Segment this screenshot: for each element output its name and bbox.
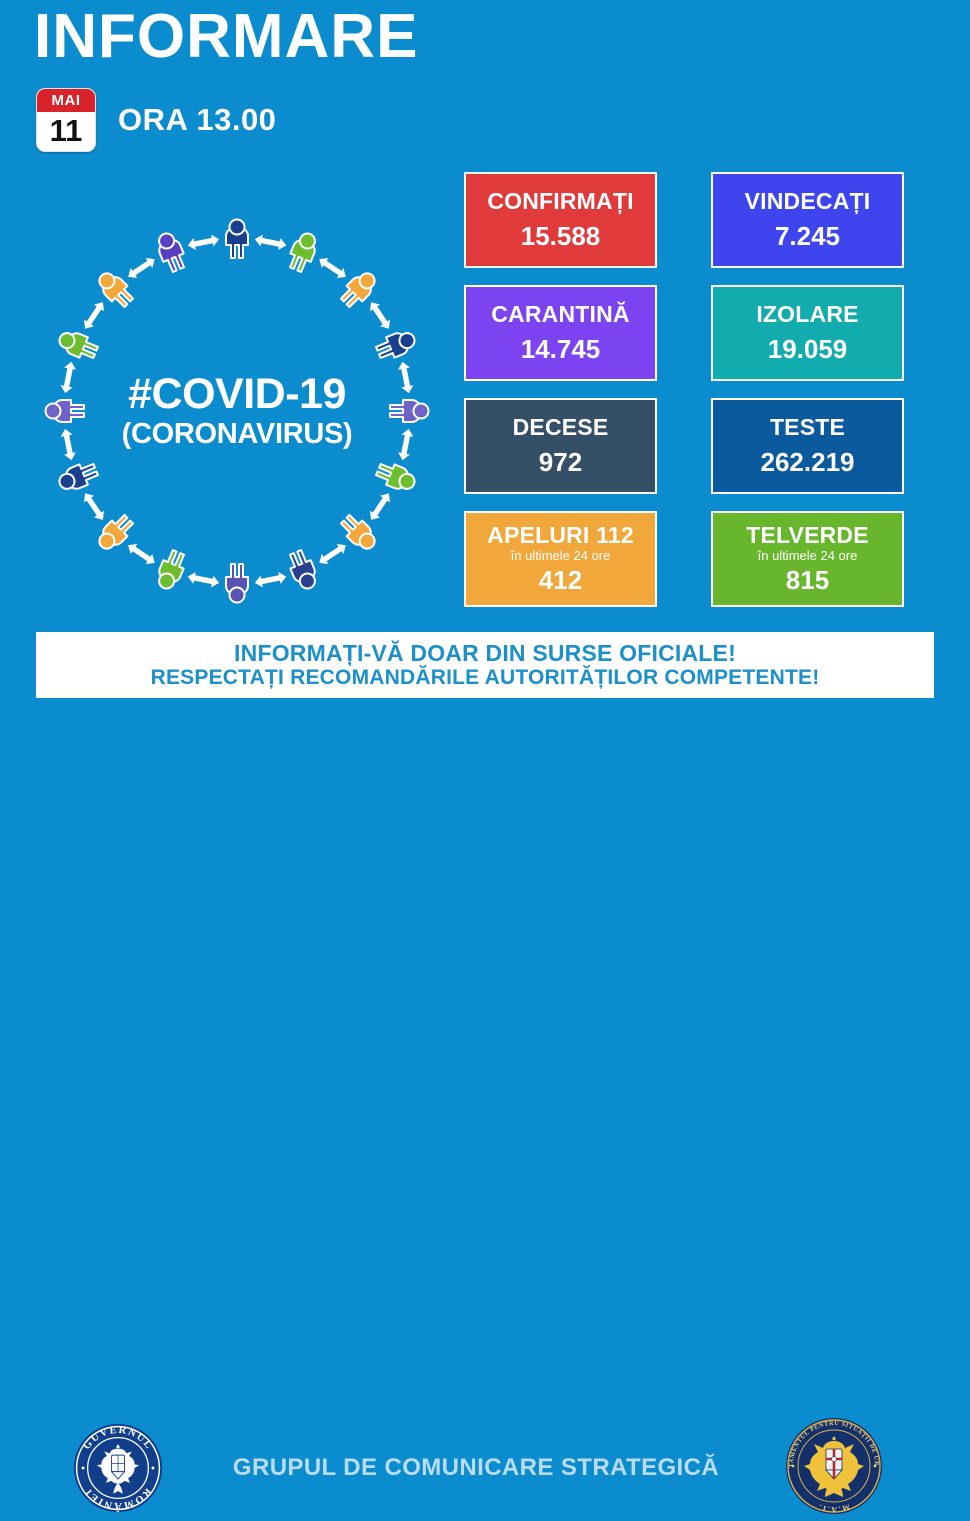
dsu-mai-seal-icon: DEPARTAMENTUL PENTRU SITUAȚII DE URGENȚĂ… — [784, 1416, 884, 1521]
double-arrow-icon — [187, 571, 221, 589]
person-icon — [285, 230, 320, 274]
stat-label: VINDECAȚI — [745, 189, 871, 214]
stat-label: TELVERDE — [746, 523, 869, 548]
stat-card-carantina[interactable]: CARANTINĂ 14.745 — [464, 285, 657, 381]
stat-value: 15.588 — [521, 223, 601, 249]
double-arrow-icon — [366, 299, 394, 332]
card-row: CONFIRMAȚI 15.588 VINDECAȚI 7.245 — [464, 172, 904, 268]
stat-card-telverde[interactable]: TELVERDE în ultimele 24 ore 815 — [711, 511, 904, 607]
stat-card-confirmati[interactable]: CONFIRMAȚI 15.588 — [464, 172, 657, 268]
stat-card-teste[interactable]: TESTE 262.219 — [711, 398, 904, 494]
person-icon — [56, 459, 100, 494]
double-arrow-icon — [254, 571, 288, 589]
double-arrow-icon — [254, 233, 288, 251]
stat-label: CONFIRMAȚI — [487, 189, 633, 214]
double-arrow-icon — [80, 299, 108, 332]
footer-title: GRUPUL DE COMUNICARE STRATEGICĂ — [206, 1454, 746, 1482]
stat-value: 19.059 — [768, 336, 848, 362]
double-arrow-icon — [125, 254, 158, 282]
double-arrow-icon — [366, 490, 394, 523]
double-arrow-icon — [59, 428, 77, 462]
person-icon — [374, 328, 418, 363]
stat-label: TESTE — [770, 415, 845, 440]
person-icon — [390, 400, 429, 422]
calendar-icon: MAI 11 — [36, 88, 96, 152]
stat-card-vindecati[interactable]: VINDECAȚI 7.245 — [711, 172, 904, 268]
stat-label: CARANTINĂ — [491, 302, 630, 327]
stat-value: 14.745 — [521, 336, 601, 362]
double-arrow-icon — [125, 540, 158, 568]
report-hour: ORA 13.00 — [118, 102, 276, 138]
double-arrow-icon — [59, 361, 77, 395]
person-icon — [226, 220, 248, 259]
person-icon — [56, 328, 100, 363]
double-arrow-icon — [80, 490, 108, 523]
stat-value: 262.219 — [761, 449, 855, 475]
stat-value: 412 — [539, 567, 582, 593]
person-icon — [374, 459, 418, 494]
stat-value: 972 — [539, 449, 582, 475]
person-icon — [46, 400, 85, 422]
card-row: DECESE 972 TESTE 262.219 — [464, 398, 904, 494]
date-time-bar: MAI 11 ORA 13.00 — [36, 88, 276, 152]
person-icon — [226, 564, 248, 603]
official-sources-banner: INFORMAȚI-VĂ DOAR DIN SURSE OFICIALE! RE… — [36, 632, 934, 698]
people-ring-icon — [22, 196, 452, 626]
stat-value: 7.245 — [775, 223, 840, 249]
stat-note: în ultimele 24 ore — [511, 549, 611, 563]
stat-value: 815 — [786, 567, 829, 593]
stat-label: DECESE — [513, 415, 609, 440]
double-arrow-icon — [316, 254, 349, 282]
stat-card-izolare[interactable]: IZOLARE 19.059 — [711, 285, 904, 381]
covid-ring-graphic: #COVID-19 (CORONAVIRUS) — [22, 196, 452, 626]
banner-line-1: INFORMAȚI-VĂ DOAR DIN SURSE OFICIALE! — [234, 640, 736, 666]
double-arrow-icon — [397, 428, 415, 462]
infographic-page: INFORMARE MAI 11 ORA 13.00 #COVID-19 (CO… — [0, 0, 970, 814]
stat-note: în ultimele 24 ore — [758, 549, 858, 563]
calendar-month: MAI — [37, 89, 95, 112]
calendar-day: 11 — [37, 112, 95, 151]
banner-line-2: RESPECTAȚI RECOMANDĂRILE AUTORITĂȚILOR C… — [151, 666, 820, 690]
footer: GUVERNUL ROMÂNIEI — [0, 706, 970, 814]
person-icon — [154, 230, 189, 274]
card-row: CARANTINĂ 14.745 IZOLARE 19.059 — [464, 285, 904, 381]
card-row: APELURI 112 în ultimele 24 ore 412 TELVE… — [464, 511, 904, 607]
page-title: INFORMARE — [34, 4, 418, 69]
stat-card-decese[interactable]: DECESE 972 — [464, 398, 657, 494]
statistics-grid: CONFIRMAȚI 15.588 VINDECAȚI 7.245 CARANT… — [464, 172, 904, 624]
stat-card-apeluri-112[interactable]: APELURI 112 în ultimele 24 ore 412 — [464, 511, 657, 607]
person-icon — [154, 548, 189, 592]
stat-label: IZOLARE — [756, 302, 858, 327]
double-arrow-icon — [316, 540, 349, 568]
stat-label: APELURI 112 — [487, 523, 634, 548]
person-icon — [285, 548, 320, 592]
double-arrow-icon — [397, 361, 415, 395]
guvernul-romaniei-seal-icon: GUVERNUL ROMÂNIEI — [72, 1422, 164, 1519]
double-arrow-icon — [187, 233, 221, 251]
